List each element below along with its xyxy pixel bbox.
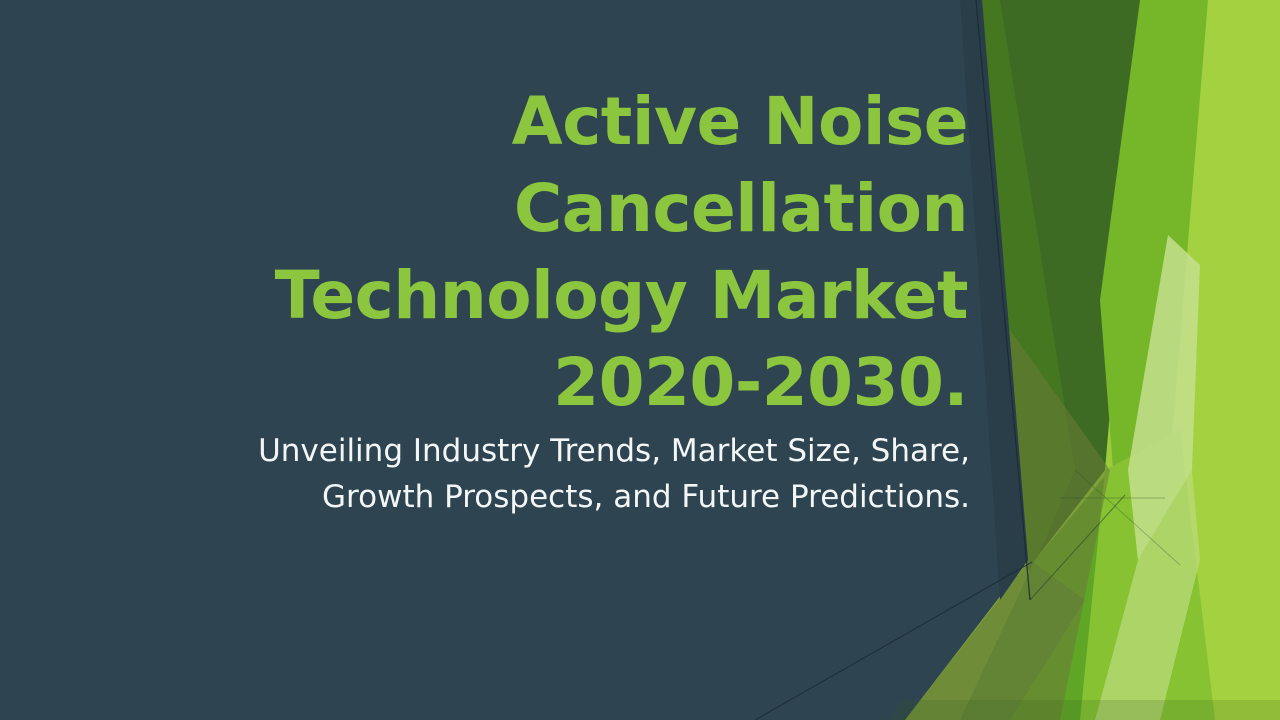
presentation-slide: Active Noise Cancellation Technology Mar… — [0, 0, 1280, 720]
slide-subtitle: Unveiling Industry Trends, Market Size, … — [140, 428, 970, 520]
bottom-shadow-wash — [890, 700, 1280, 720]
title-placeholder[interactable]: Active Noise Cancellation Technology Mar… — [140, 78, 968, 426]
subtitle-placeholder[interactable]: Unveiling Industry Trends, Market Size, … — [140, 428, 970, 520]
page-title: Active Noise Cancellation Technology Mar… — [140, 78, 968, 426]
